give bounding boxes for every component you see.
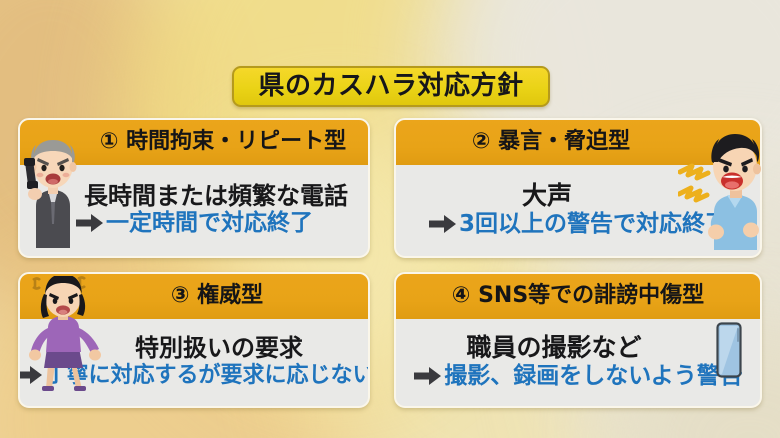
behavior-text: 特別扱いの要求 xyxy=(85,336,303,361)
response-text: 撮影、録画をしないよう警告 xyxy=(444,364,743,388)
right-arrow-icon xyxy=(18,364,43,386)
panel-heading-text: ② 暴言・脅迫型 xyxy=(472,131,684,153)
behavior-text: 大声 xyxy=(522,183,634,209)
panel-sns-defamation: ④ SNS等での誹謗中傷型 職員の撮影など 撮影、録画をしないよう警告 xyxy=(394,272,762,408)
panel-time-constraint: ① 時間拘束・リピート型 長時間または頻繁な電話 一定時間で対応終了 xyxy=(18,118,370,258)
panel-body: 特別扱いの要求 丁寧に対応するが要求に応じない xyxy=(20,319,368,406)
response-text: 一定時間で対応終了 xyxy=(106,211,313,235)
panel-header: ① 時間拘束・リピート型 xyxy=(20,120,368,165)
panel-heading-text: ③ 権威型 xyxy=(125,285,263,307)
right-arrow-icon xyxy=(75,212,104,234)
page-title: 県のカスハラ対応方針 xyxy=(258,73,523,99)
panel-header: ④ SNS等での誹謗中傷型 xyxy=(396,274,760,319)
panel-heading-text: ④ SNS等での誹謗中傷型 xyxy=(452,285,704,307)
panel-verbal-abuse: ② 暴言・脅迫型 大声 3回以上の警告で対応終了 xyxy=(394,118,762,258)
panel-body: 長時間または頻繁な電話 一定時間で対応終了 xyxy=(20,165,368,256)
right-arrow-icon xyxy=(413,365,442,387)
panel-header: ② 暴言・脅迫型 xyxy=(396,120,760,165)
panel-heading-text: ① 時間拘束・リピート型 xyxy=(42,131,346,153)
page-title-banner: 県のカスハラ対応方針 xyxy=(232,66,550,107)
response-row: 丁寧に対応するが要求に応じない xyxy=(18,364,370,387)
right-arrow-icon xyxy=(428,213,457,235)
panel-header: ③ 権威型 xyxy=(20,274,368,319)
panel-body: 大声 3回以上の警告で対応終了 xyxy=(396,165,760,256)
response-row: 一定時間で対応終了 xyxy=(75,211,313,235)
response-text: 3回以上の警告で対応終了 xyxy=(459,212,728,236)
response-text: 丁寧に対応するが要求に応じない xyxy=(45,364,371,387)
behavior-text: 長時間または頻繁な電話 xyxy=(40,184,348,209)
response-row: 3回以上の警告で対応終了 xyxy=(428,212,728,236)
panel-body: 職員の撮影など 撮影、録画をしないよう警告 xyxy=(396,319,760,406)
behavior-text: 職員の撮影など xyxy=(466,335,689,361)
panel-authority: ③ 権威型 特別扱いの要求 丁寧に対応するが要求に応じない xyxy=(18,272,370,408)
response-row: 撮影、録画をしないよう警告 xyxy=(413,364,743,388)
